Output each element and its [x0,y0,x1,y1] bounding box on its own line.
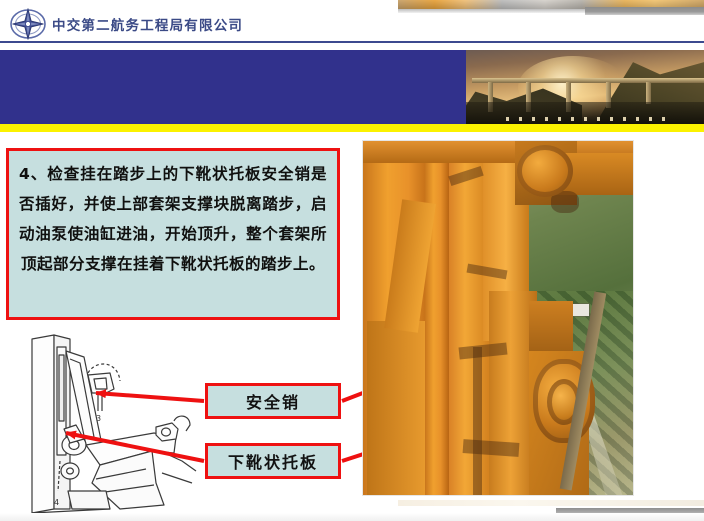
callout-label: 安全销 [246,389,300,413]
callout-label: 下靴状托板 [228,449,318,473]
bottom-slide-sliver [398,500,704,506]
construction-frame-photo [362,140,634,496]
bridge-sunset-photo [466,50,704,124]
statement-text-box: 4、检查挂在踏步上的下靴状托板安全销是否插好，并使上部套架支撑块脱离踏步，启动油… [6,148,340,320]
callout-lower-boot-bracket: 下靴状托板 [205,443,341,479]
bottom-page-edge [0,513,704,521]
header-divider-rule [0,41,704,43]
callout-safety-pin: 安全销 [205,383,341,419]
yellow-accent-stripe [0,124,704,132]
company-header: 中交第二航务工程局有限公司 [0,8,704,40]
presentation-slide: 中交第二航务工程局有限公司 4、检查挂在踏步上的下靴状托板安全销是否插好，并使上… [0,0,704,521]
company-name-text: 中交第二航务工程局有限公司 [52,14,243,34]
statement-text: 4、检查挂在踏步上的下靴状托板安全销是否插好，并使上部套架支撑块脱离踏步，启动油… [19,159,327,279]
compass-emblem-logo-icon [8,8,48,40]
